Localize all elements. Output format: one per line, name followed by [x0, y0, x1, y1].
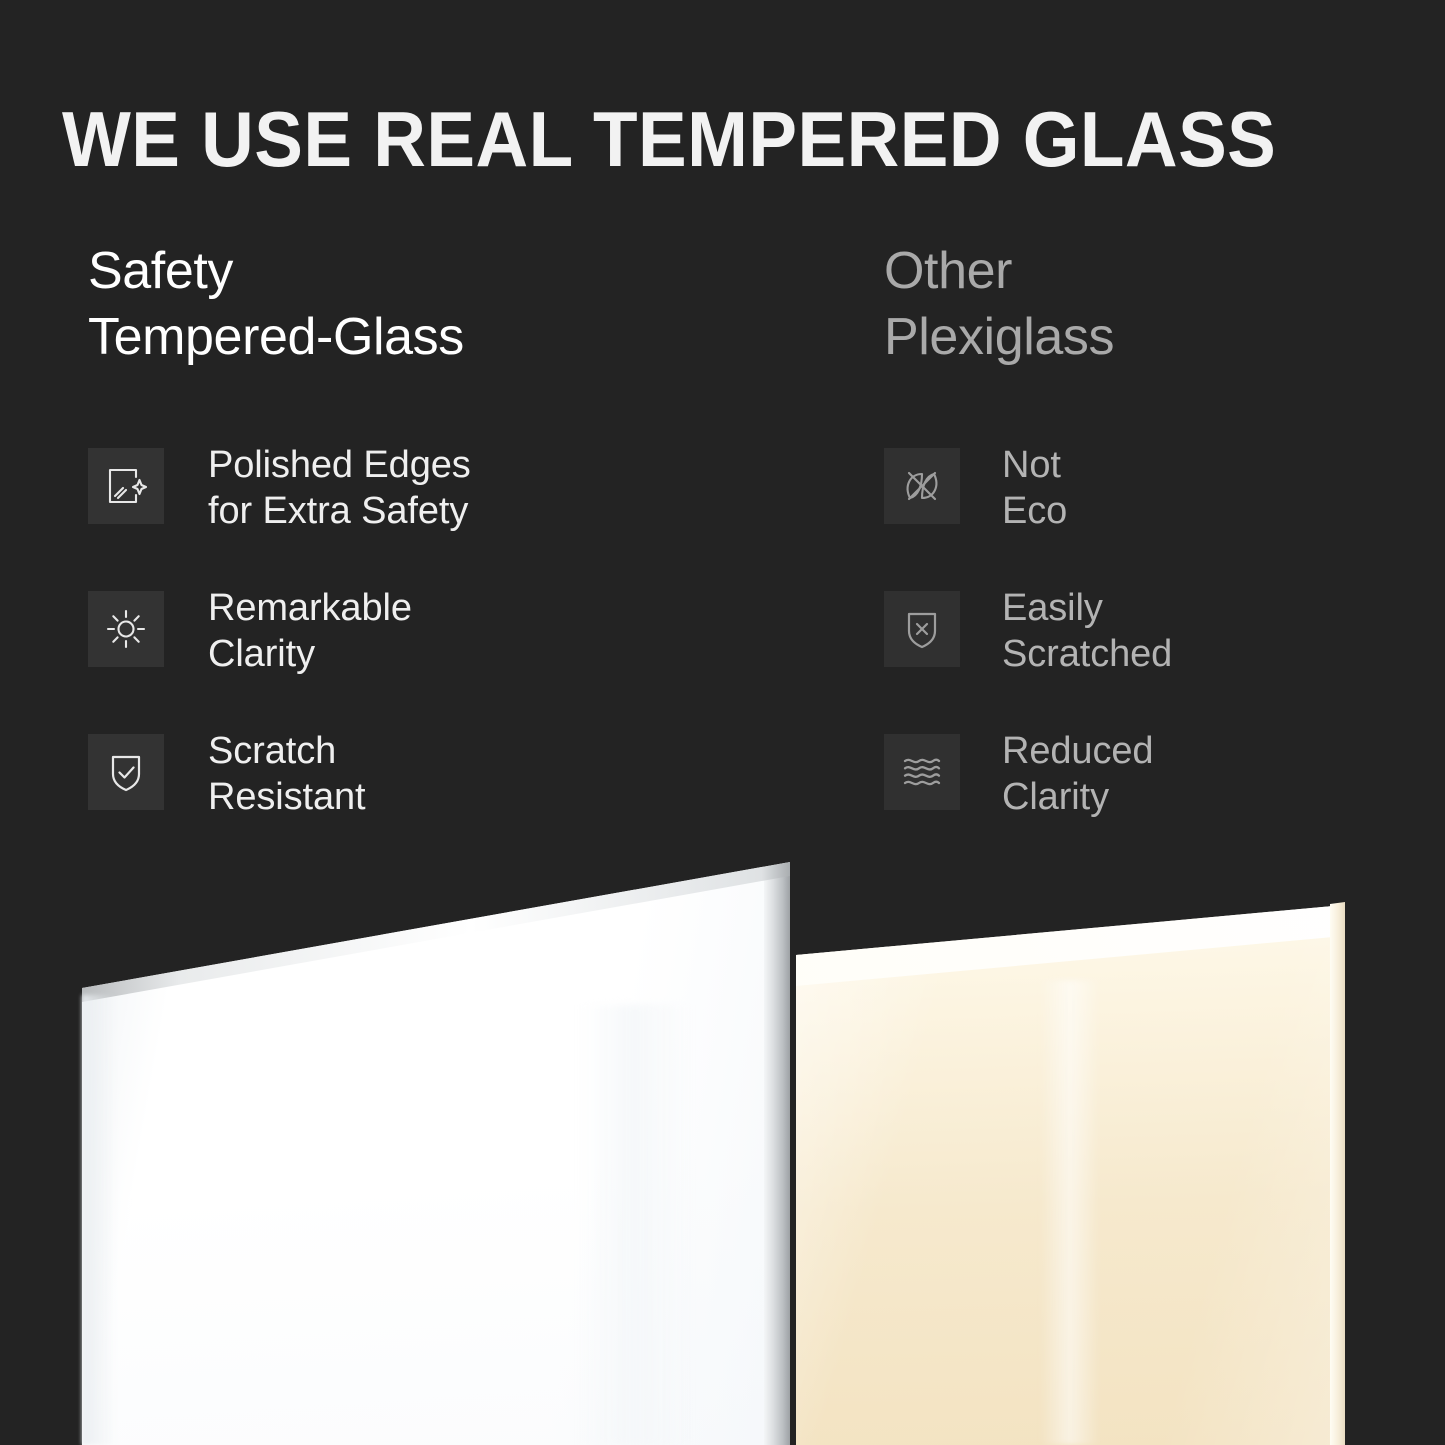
feature-list-tempered-glass: Polished Edges for Extra Safety Remarkab…	[88, 448, 808, 877]
tempered-glass-panel-polished-right-edge	[764, 840, 790, 1445]
tempered-glass-panel-left-reflection	[82, 995, 116, 1445]
column-heading-tempered-glass: Safety Tempered-Glass	[88, 238, 808, 370]
polished-glass-pane-icon	[88, 448, 164, 524]
sun-clarity-icon	[88, 591, 164, 667]
shield-check-icon	[88, 734, 164, 810]
feature-label-reduced-clarity: Reduced Clarity	[1002, 728, 1153, 820]
feature-row-polished-edges: Polished Edges for Extra Safety	[88, 448, 808, 591]
leaf-crossed-out-icon	[884, 448, 960, 524]
feature-label-easily-scratched: Easily Scratched	[1002, 585, 1172, 677]
feature-label-remarkable-clarity: Remarkable Clarity	[208, 585, 412, 677]
tempered-glass-panel-reflection	[580, 1005, 690, 1445]
column-plexiglass: Other Plexiglass Not Eco	[884, 238, 1404, 370]
feature-row-easily-scratched: Easily Scratched	[884, 591, 1404, 734]
column-heading-plexiglass: Other Plexiglass	[884, 238, 1404, 370]
glass-panel-comparison-image	[0, 840, 1445, 1445]
wavy-lines-icon	[884, 734, 960, 810]
feature-list-plexiglass: Not Eco Easily Scratched	[884, 448, 1404, 877]
feature-row-not-eco: Not Eco	[884, 448, 1404, 591]
product-comparison-graphic: WE USE REAL TEMPERED GLASS Safety Temper…	[0, 0, 1445, 1445]
feature-row-remarkable-clarity: Remarkable Clarity	[88, 591, 808, 734]
shield-x-icon	[884, 591, 960, 667]
column-tempered-glass: Safety Tempered-Glass Polished Edges for…	[88, 238, 808, 370]
page-title: WE USE REAL TEMPERED GLASS	[62, 96, 1306, 182]
plexiglass-panel-reflection	[1040, 980, 1100, 1445]
feature-label-not-eco: Not Eco	[1002, 442, 1067, 534]
plexiglass-panel-right-edge	[1330, 840, 1345, 1445]
feature-label-polished-edges: Polished Edges for Extra Safety	[208, 442, 471, 534]
feature-label-scratch-resistant: Scratch Resistant	[208, 728, 366, 820]
